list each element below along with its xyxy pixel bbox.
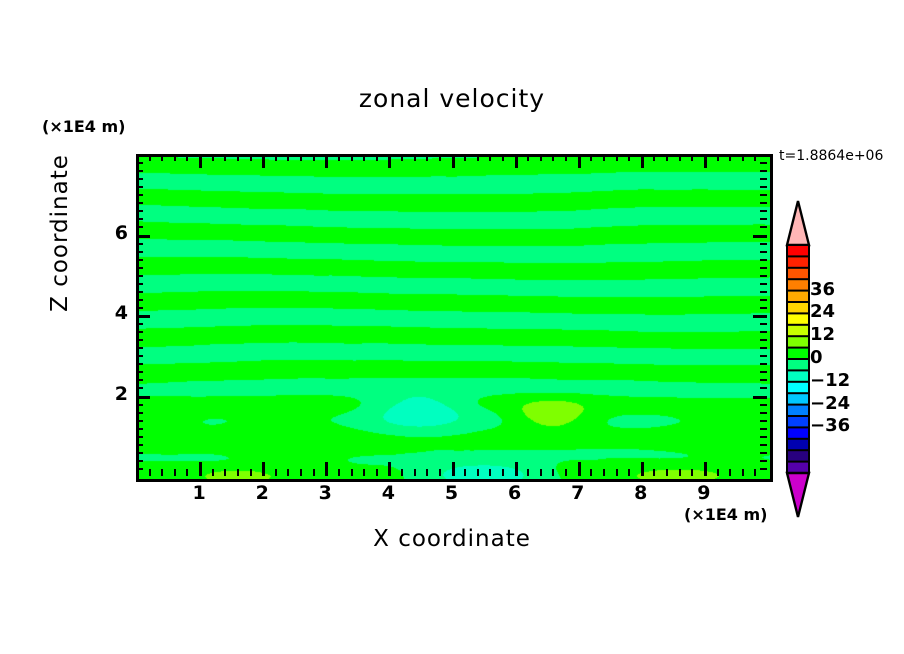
axis-tick (401, 154, 403, 161)
axis-tick (754, 469, 756, 476)
axis-tick (439, 469, 441, 476)
axis-tick (136, 299, 143, 301)
colorbar-tick-label: 12 (810, 324, 835, 345)
axis-tick (641, 462, 644, 476)
axis-tick (666, 469, 668, 476)
axis-tick (186, 469, 188, 476)
axis-tick (136, 323, 143, 325)
axis-tick (540, 154, 542, 161)
axis-tick (351, 154, 353, 161)
x-axis-tick-label: 9 (684, 482, 724, 504)
axis-tick (603, 469, 605, 476)
axis-tick (760, 404, 767, 406)
axis-tick (351, 469, 353, 476)
axis-tick (704, 154, 707, 168)
axis-tick (136, 404, 143, 406)
axis-tick (136, 210, 143, 212)
axis-tick (679, 154, 681, 161)
axis-tick (590, 154, 592, 161)
axis-tick (760, 379, 767, 381)
axis-tick (603, 154, 605, 161)
axis-tick (414, 154, 416, 161)
axis-tick (136, 202, 143, 204)
x-axis-tick-label: 1 (179, 482, 219, 504)
axis-tick (199, 462, 202, 476)
axis-tick (704, 462, 707, 476)
axis-tick (628, 154, 630, 161)
axis-tick (653, 154, 655, 161)
x-axis-unit-label: (×1E4 m) (684, 505, 767, 524)
axis-tick (136, 283, 143, 285)
axis-tick (325, 462, 328, 476)
axis-tick (760, 307, 767, 309)
axis-tick (224, 154, 226, 161)
axis-tick (760, 460, 767, 462)
axis-tick (760, 210, 767, 212)
x-axis-tick-label: 3 (305, 482, 345, 504)
axis-tick (502, 154, 504, 161)
axis-tick (641, 154, 644, 168)
axis-tick (760, 178, 767, 180)
axis-tick (212, 469, 214, 476)
axis-tick (760, 363, 767, 365)
axis-tick (136, 267, 143, 269)
axis-tick (224, 469, 226, 476)
axis-tick (313, 154, 315, 161)
axis-tick (287, 469, 289, 476)
axis-tick (136, 226, 143, 228)
x-axis-tick-label: 4 (368, 482, 408, 504)
axis-tick (489, 154, 491, 161)
axis-tick (502, 469, 504, 476)
axis-tick (760, 339, 767, 341)
contour-plot-area (136, 154, 773, 482)
y-axis-title: Z coordinate (47, 133, 73, 333)
axis-tick (426, 154, 428, 161)
axis-tick (527, 154, 529, 161)
x-axis-tick-label: 2 (242, 482, 282, 504)
axis-tick (426, 469, 428, 476)
axis-tick (653, 469, 655, 476)
axis-tick (477, 154, 479, 161)
axis-tick (691, 469, 693, 476)
x-axis-tick-label: 6 (495, 482, 535, 504)
axis-tick (338, 154, 340, 161)
axis-tick (717, 154, 719, 161)
axis-tick (760, 226, 767, 228)
axis-tick (388, 462, 391, 476)
axis-tick (212, 154, 214, 161)
axis-tick (540, 469, 542, 476)
axis-tick (136, 275, 143, 277)
axis-tick (136, 331, 143, 333)
axis-tick (136, 387, 143, 389)
axis-tick (760, 186, 767, 188)
colorbar-tick-label: 36 (810, 279, 835, 300)
axis-tick (515, 154, 518, 168)
axis-tick (136, 251, 143, 253)
axis-tick (136, 315, 150, 318)
axis-tick (388, 154, 391, 168)
axis-tick (742, 154, 744, 161)
axis-tick (616, 469, 618, 476)
axis-tick (452, 462, 455, 476)
y-axis-tick-label: 6 (88, 222, 128, 244)
axis-tick (489, 469, 491, 476)
x-axis-title: X coordinate (0, 526, 904, 552)
axis-tick (136, 339, 143, 341)
axis-tick (136, 235, 150, 238)
axis-tick (237, 469, 239, 476)
axis-tick (136, 363, 143, 365)
axis-tick (136, 259, 143, 261)
axis-tick (161, 154, 163, 161)
axis-tick (376, 469, 378, 476)
axis-tick (237, 154, 239, 161)
axis-tick (136, 218, 143, 220)
axis-tick (136, 468, 143, 470)
axis-tick (313, 469, 315, 476)
axis-tick (760, 468, 767, 470)
axis-tick (439, 154, 441, 161)
axis-tick (578, 154, 581, 168)
axis-tick (760, 267, 767, 269)
axis-tick (136, 307, 143, 309)
axis-tick (760, 259, 767, 261)
axis-tick (729, 469, 731, 476)
y-axis-tick-label: 2 (88, 383, 128, 405)
colorbar-tick-label: −24 (810, 393, 850, 414)
y-axis-tick-label: 4 (88, 302, 128, 324)
axis-tick (250, 469, 252, 476)
axis-tick (452, 154, 455, 168)
axis-tick (275, 469, 277, 476)
axis-tick (363, 469, 365, 476)
x-axis-tick-label: 8 (621, 482, 661, 504)
axis-tick (552, 469, 554, 476)
axis-tick (753, 396, 767, 399)
axis-tick (760, 420, 767, 422)
axis-tick (136, 379, 143, 381)
axis-tick (300, 469, 302, 476)
axis-tick (760, 275, 767, 277)
axis-tick (338, 469, 340, 476)
axis-tick (199, 154, 202, 168)
axis-tick (760, 452, 767, 454)
axis-tick (760, 387, 767, 389)
axis-tick (174, 469, 176, 476)
axis-tick (401, 469, 403, 476)
axis-tick (136, 420, 143, 422)
axis-tick (760, 331, 767, 333)
axis-tick (760, 218, 767, 220)
axis-tick (136, 243, 143, 245)
axis-tick (691, 154, 693, 161)
colorbar-tick-label: 24 (810, 301, 835, 322)
axis-tick (136, 291, 143, 293)
axis-tick (136, 452, 143, 454)
axis-tick (136, 194, 143, 196)
axis-tick (149, 154, 151, 161)
axis-tick (742, 469, 744, 476)
axis-tick (515, 462, 518, 476)
axis-tick (262, 154, 265, 168)
axis-tick (161, 469, 163, 476)
axis-tick (477, 469, 479, 476)
axis-tick (136, 347, 143, 349)
axis-tick (174, 154, 176, 161)
axis-tick (136, 444, 143, 446)
axis-tick (262, 462, 265, 476)
axis-tick (760, 162, 767, 164)
axis-tick (628, 469, 630, 476)
axis-tick (590, 469, 592, 476)
axis-tick (325, 154, 328, 168)
axis-tick (376, 154, 378, 161)
axis-tick (136, 355, 143, 357)
axis-tick (250, 154, 252, 161)
axis-tick (729, 154, 731, 161)
axis-tick (760, 202, 767, 204)
axis-tick (760, 436, 767, 438)
x-axis-tick-label: 5 (432, 482, 472, 504)
axis-tick (679, 469, 681, 476)
axis-tick (136, 178, 143, 180)
axis-tick (414, 469, 416, 476)
axis-tick (578, 462, 581, 476)
page-title: zonal velocity (0, 84, 904, 113)
axis-tick (760, 323, 767, 325)
axis-tick (136, 396, 150, 399)
axis-tick (136, 460, 143, 462)
axis-tick (464, 469, 466, 476)
axis-tick (136, 371, 143, 373)
axis-tick (363, 154, 365, 161)
colorbar-tick-label: 0 (810, 347, 823, 368)
axis-tick (287, 154, 289, 161)
axis-tick (760, 355, 767, 357)
axis-tick (760, 291, 767, 293)
axis-tick (136, 170, 143, 172)
axis-tick (760, 428, 767, 430)
axis-tick (136, 436, 143, 438)
axis-tick (760, 194, 767, 196)
axis-tick (565, 469, 567, 476)
axis-tick (760, 251, 767, 253)
axis-tick (275, 154, 277, 161)
axis-tick (464, 154, 466, 161)
axis-tick (616, 154, 618, 161)
axis-tick (760, 444, 767, 446)
axis-tick (760, 170, 767, 172)
axis-tick (717, 469, 719, 476)
colorbar-tick-label: −36 (810, 415, 850, 436)
axis-tick (760, 283, 767, 285)
axis-tick (760, 243, 767, 245)
axis-tick (300, 154, 302, 161)
axis-tick (760, 371, 767, 373)
x-axis-tick-label: 7 (558, 482, 598, 504)
axis-tick (666, 154, 668, 161)
axis-tick (760, 299, 767, 301)
axis-tick (760, 412, 767, 414)
contour-field (139, 157, 770, 479)
axis-tick (136, 412, 143, 414)
axis-tick (527, 469, 529, 476)
axis-tick (754, 154, 756, 161)
axis-tick (552, 154, 554, 161)
axis-tick (753, 235, 767, 238)
axis-tick (136, 428, 143, 430)
axis-tick (136, 186, 143, 188)
axis-tick (760, 347, 767, 349)
axis-tick (149, 469, 151, 476)
axis-tick (565, 154, 567, 161)
axis-tick (136, 162, 143, 164)
axis-tick (186, 154, 188, 161)
colorbar-tick-label: −12 (810, 370, 850, 391)
timestamp-annotation: t=1.8864e+06 (779, 148, 883, 164)
axis-tick (753, 315, 767, 318)
